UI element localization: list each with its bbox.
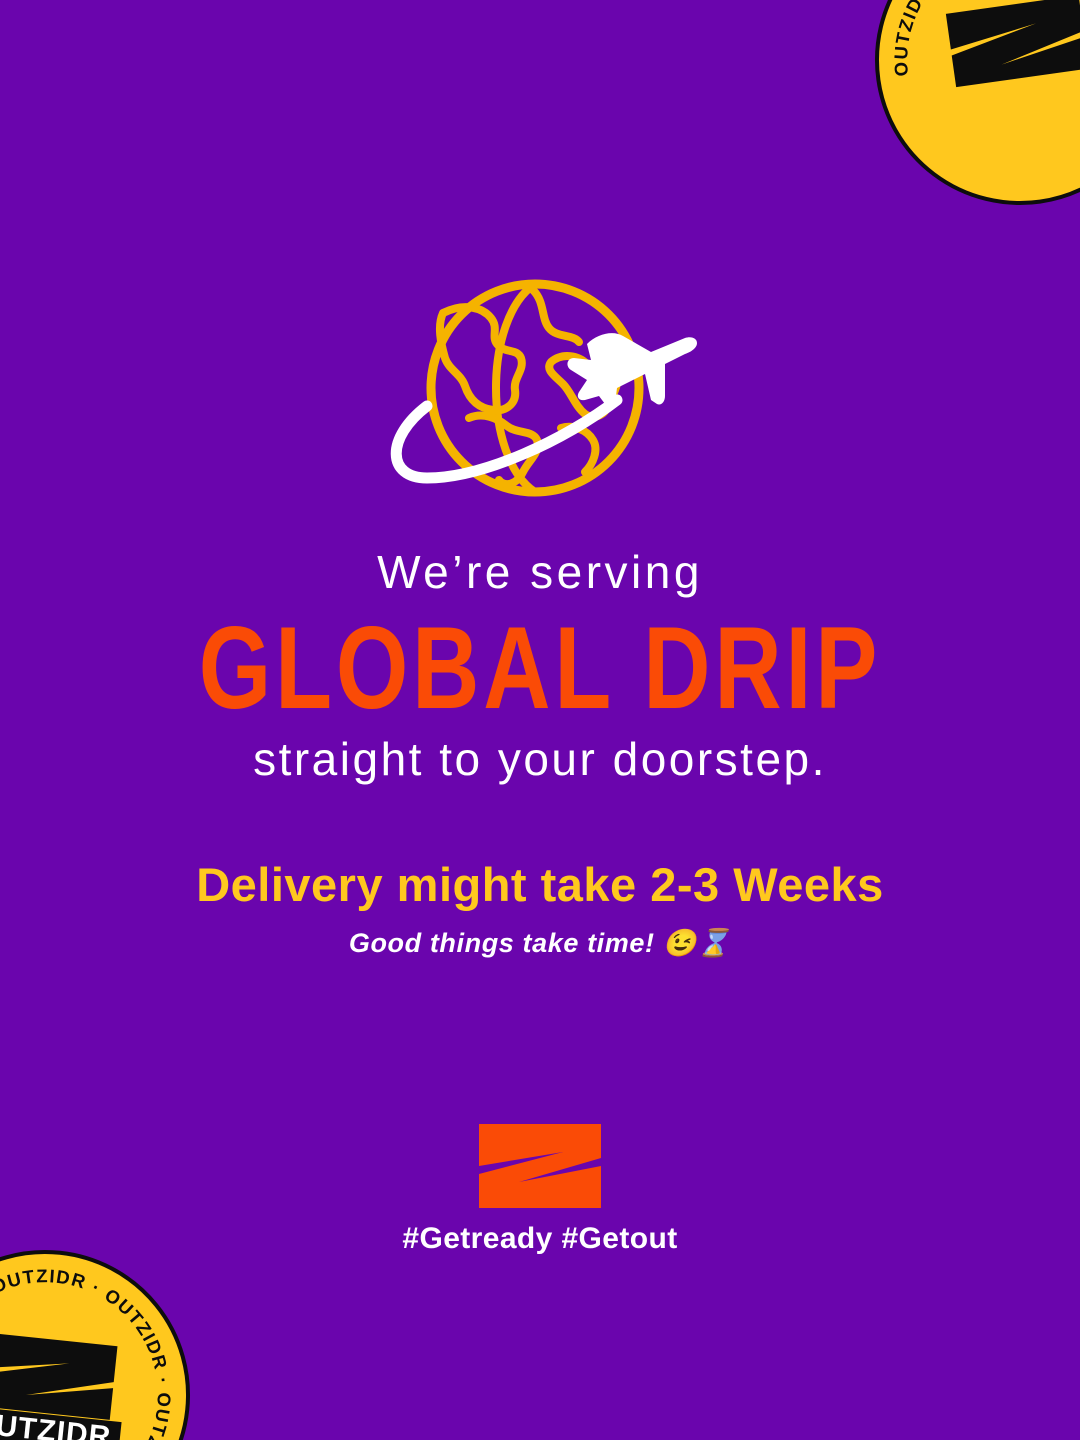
line-straight-to-your-doorstep: straight to your doorstep.: [0, 734, 1080, 785]
badge-top-right: OUTZIDR · OUTZIDR · OUTZIDR · OUTZIDR ·: [856, 0, 1080, 224]
globe-airplane-icon: [365, 278, 715, 513]
footer-lockup: #Getready #Getout: [0, 1122, 1080, 1256]
poster-canvas: OUTZIDR · OUTZIDR · OUTZIDR · OUTZIDR ·: [0, 0, 1080, 1440]
line-good-things-take-time: Good things take time! 😉⌛: [0, 927, 1080, 959]
badge-wordmark-bottom-left: OUTZIDR: [0, 1327, 136, 1440]
footer-tagline: #Getready #Getout: [0, 1222, 1080, 1256]
badge-wordmark-label: OUTZIDR: [0, 1407, 113, 1440]
line-global-drip: GLOBAL DRIP: [16, 608, 1064, 731]
z-mark-icon-top-right: [937, 0, 1080, 130]
line-were-serving: We’re serving: [0, 548, 1080, 598]
z-logo-icon: [475, 1122, 605, 1210]
badge-bottom-left: OUTZIDR · OUTZIDR · OUTZIDR · OUTZIDR · …: [0, 1236, 204, 1440]
line-delivery-time: Delivery might take 2-3 Weeks: [0, 859, 1080, 911]
headline-block: We’re serving GLOBAL DRIP straight to yo…: [0, 548, 1080, 959]
